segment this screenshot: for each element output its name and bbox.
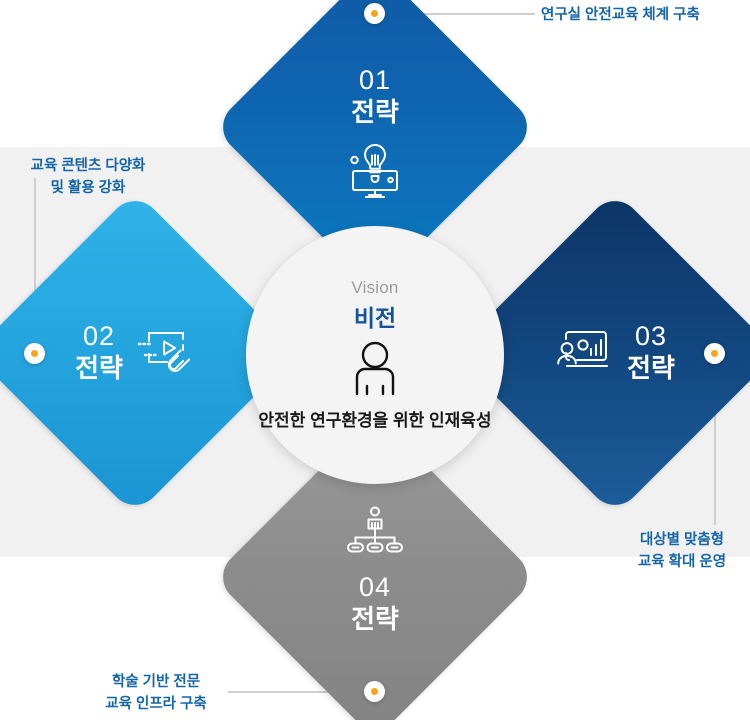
strategy-04-text: 04 전략 (351, 572, 399, 636)
vision-label-ko: 비전 (354, 299, 396, 333)
lightbulb-monitor-icon (344, 142, 406, 205)
strategy-01-label: 전략 (351, 96, 399, 129)
callout-strategy-01: 연구실 안전교육 체계 구축 (541, 5, 700, 27)
strategy-01-text: 01 전략 (351, 65, 399, 129)
connector-dot-strategy-01[interactable] (364, 3, 385, 24)
vision-description: 안전한 연구환경을 위한 인재육성 (258, 410, 491, 432)
connector-dot-strategy-03[interactable] (704, 343, 725, 364)
connector-dot-strategy-04[interactable] (364, 681, 385, 702)
video-paperclip-icon (133, 324, 195, 383)
strategy-02-text: 02 전략 (75, 321, 123, 385)
strategy-03-text: 03 전략 (627, 321, 675, 385)
person-barchart-presentation-icon (555, 325, 617, 382)
vision-circle[interactable]: Vision 비전 안전한 연구환경을 위한 인재육성 (246, 226, 504, 484)
callout-strategy-03: 대상별 맞춤형 교육 확대 운영 (628, 530, 736, 574)
connector-dot-strategy-02[interactable] (24, 343, 45, 364)
strategy-03-number: 03 (627, 321, 675, 352)
infographic-canvas: 01 전략 02 전략 (0, 0, 750, 720)
org-hierarchy-icon (346, 505, 404, 562)
callout-strategy-02: 교육 콘텐츠 다양화 및 활용 강화 (18, 156, 158, 200)
strategy-02-number: 02 (75, 321, 123, 352)
strategy-02-label: 전략 (75, 352, 123, 385)
strategy-04-number: 04 (351, 572, 399, 603)
person-icon (347, 341, 403, 404)
callout-strategy-04: 학술 기반 전문 교육 인프라 구축 (86, 672, 226, 716)
strategy-03-label: 전략 (627, 352, 675, 385)
strategy-04-label: 전략 (351, 603, 399, 636)
vision-label-en: Vision (351, 278, 398, 298)
strategy-01-number: 01 (351, 65, 399, 96)
